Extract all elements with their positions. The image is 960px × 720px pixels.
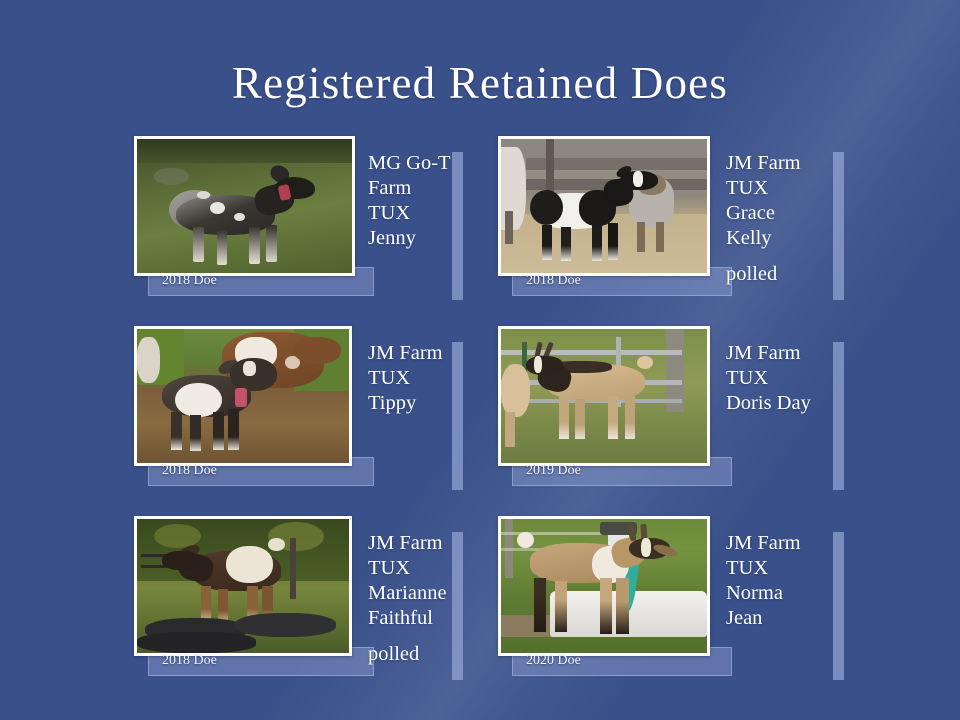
info-line: JM Farm — [726, 151, 801, 176]
info-line: Jenny — [368, 226, 451, 251]
info-line: JM Farm — [726, 341, 811, 366]
info-line: Faithful — [368, 606, 447, 631]
info-line: TUX — [368, 556, 447, 581]
info-line: JM Farm — [368, 531, 447, 556]
card-info: JM Farm TUX Marianne Faithful polled — [368, 531, 447, 667]
info-line: Doris Day — [726, 391, 811, 416]
photo-frame[interactable] — [134, 136, 355, 276]
info-line: Marianne — [368, 581, 447, 606]
info-line: TUX — [726, 176, 801, 201]
accent-bar — [452, 152, 463, 300]
card-jenny[interactable]: 2018 Doe MG Go-T Farm TUX Jenny — [134, 136, 464, 306]
info-line: MG Go-T — [368, 151, 451, 176]
accent-bar — [452, 532, 463, 680]
photo-caption: 2018 Doe — [526, 273, 581, 289]
card-info: JM Farm TUX Doris Day — [726, 341, 811, 416]
accent-bar — [833, 532, 844, 680]
slide-canvas: Registered Retained Does 2018 Doe MG Go-… — [0, 0, 960, 720]
card-doris-day[interactable]: 2019 Doe JM Farm TUX Doris Day — [498, 326, 846, 496]
goat-photo — [501, 139, 707, 273]
goat-photo — [501, 329, 707, 463]
goat-photo — [137, 329, 349, 463]
info-note: polled — [726, 262, 801, 287]
info-line: Farm — [368, 176, 451, 201]
goat-photo — [501, 519, 707, 653]
info-line: TUX — [726, 366, 811, 391]
info-line: JM Farm — [368, 341, 443, 366]
info-line: Norma — [726, 581, 801, 606]
info-line: JM Farm — [726, 531, 801, 556]
photo-caption: 2018 Doe — [162, 463, 217, 479]
card-info: JM Farm TUX Tippy — [368, 341, 443, 416]
info-spacer — [368, 631, 447, 642]
accent-bar — [833, 342, 844, 490]
info-line: TUX — [368, 201, 451, 226]
info-note: polled — [368, 642, 447, 667]
card-norma-jean[interactable]: 2020 Doe JM Farm TUX Norma Jean — [498, 516, 846, 686]
photo-frame[interactable] — [498, 326, 710, 466]
card-info: JM Farm TUX Norma Jean — [726, 531, 801, 631]
photo-caption: 2018 Doe — [162, 653, 217, 669]
photo-caption: 2019 Doe — [526, 463, 581, 479]
goat-photo — [137, 519, 349, 653]
page-title: Registered Retained Does — [0, 54, 960, 112]
card-info: JM Farm TUX Grace Kelly polled — [726, 151, 801, 287]
info-line: Kelly — [726, 226, 801, 251]
photo-caption: 2018 Doe — [162, 273, 217, 289]
accent-bar — [452, 342, 463, 490]
info-line: TUX — [726, 556, 801, 581]
accent-bar — [833, 152, 844, 300]
photo-frame[interactable] — [498, 136, 710, 276]
info-spacer — [726, 251, 801, 262]
info-line: Tippy — [368, 391, 443, 416]
goat-photo — [137, 139, 352, 273]
card-grace-kelly[interactable]: 2018 Doe JM Farm TUX Grace Kelly polled — [498, 136, 846, 306]
card-marianne-faithful[interactable]: 2018 Doe JM Farm TUX Marianne Faithful p… — [134, 516, 464, 686]
info-line: TUX — [368, 366, 443, 391]
card-info: MG Go-T Farm TUX Jenny — [368, 151, 451, 251]
photo-caption: 2020 Doe — [526, 653, 581, 669]
photo-frame[interactable] — [134, 516, 352, 656]
info-line: Grace — [726, 201, 801, 226]
photo-frame[interactable] — [134, 326, 352, 466]
card-tippy[interactable]: 2018 Doe JM Farm TUX Tippy — [134, 326, 464, 496]
info-line: Jean — [726, 606, 801, 631]
photo-frame[interactable] — [498, 516, 710, 656]
